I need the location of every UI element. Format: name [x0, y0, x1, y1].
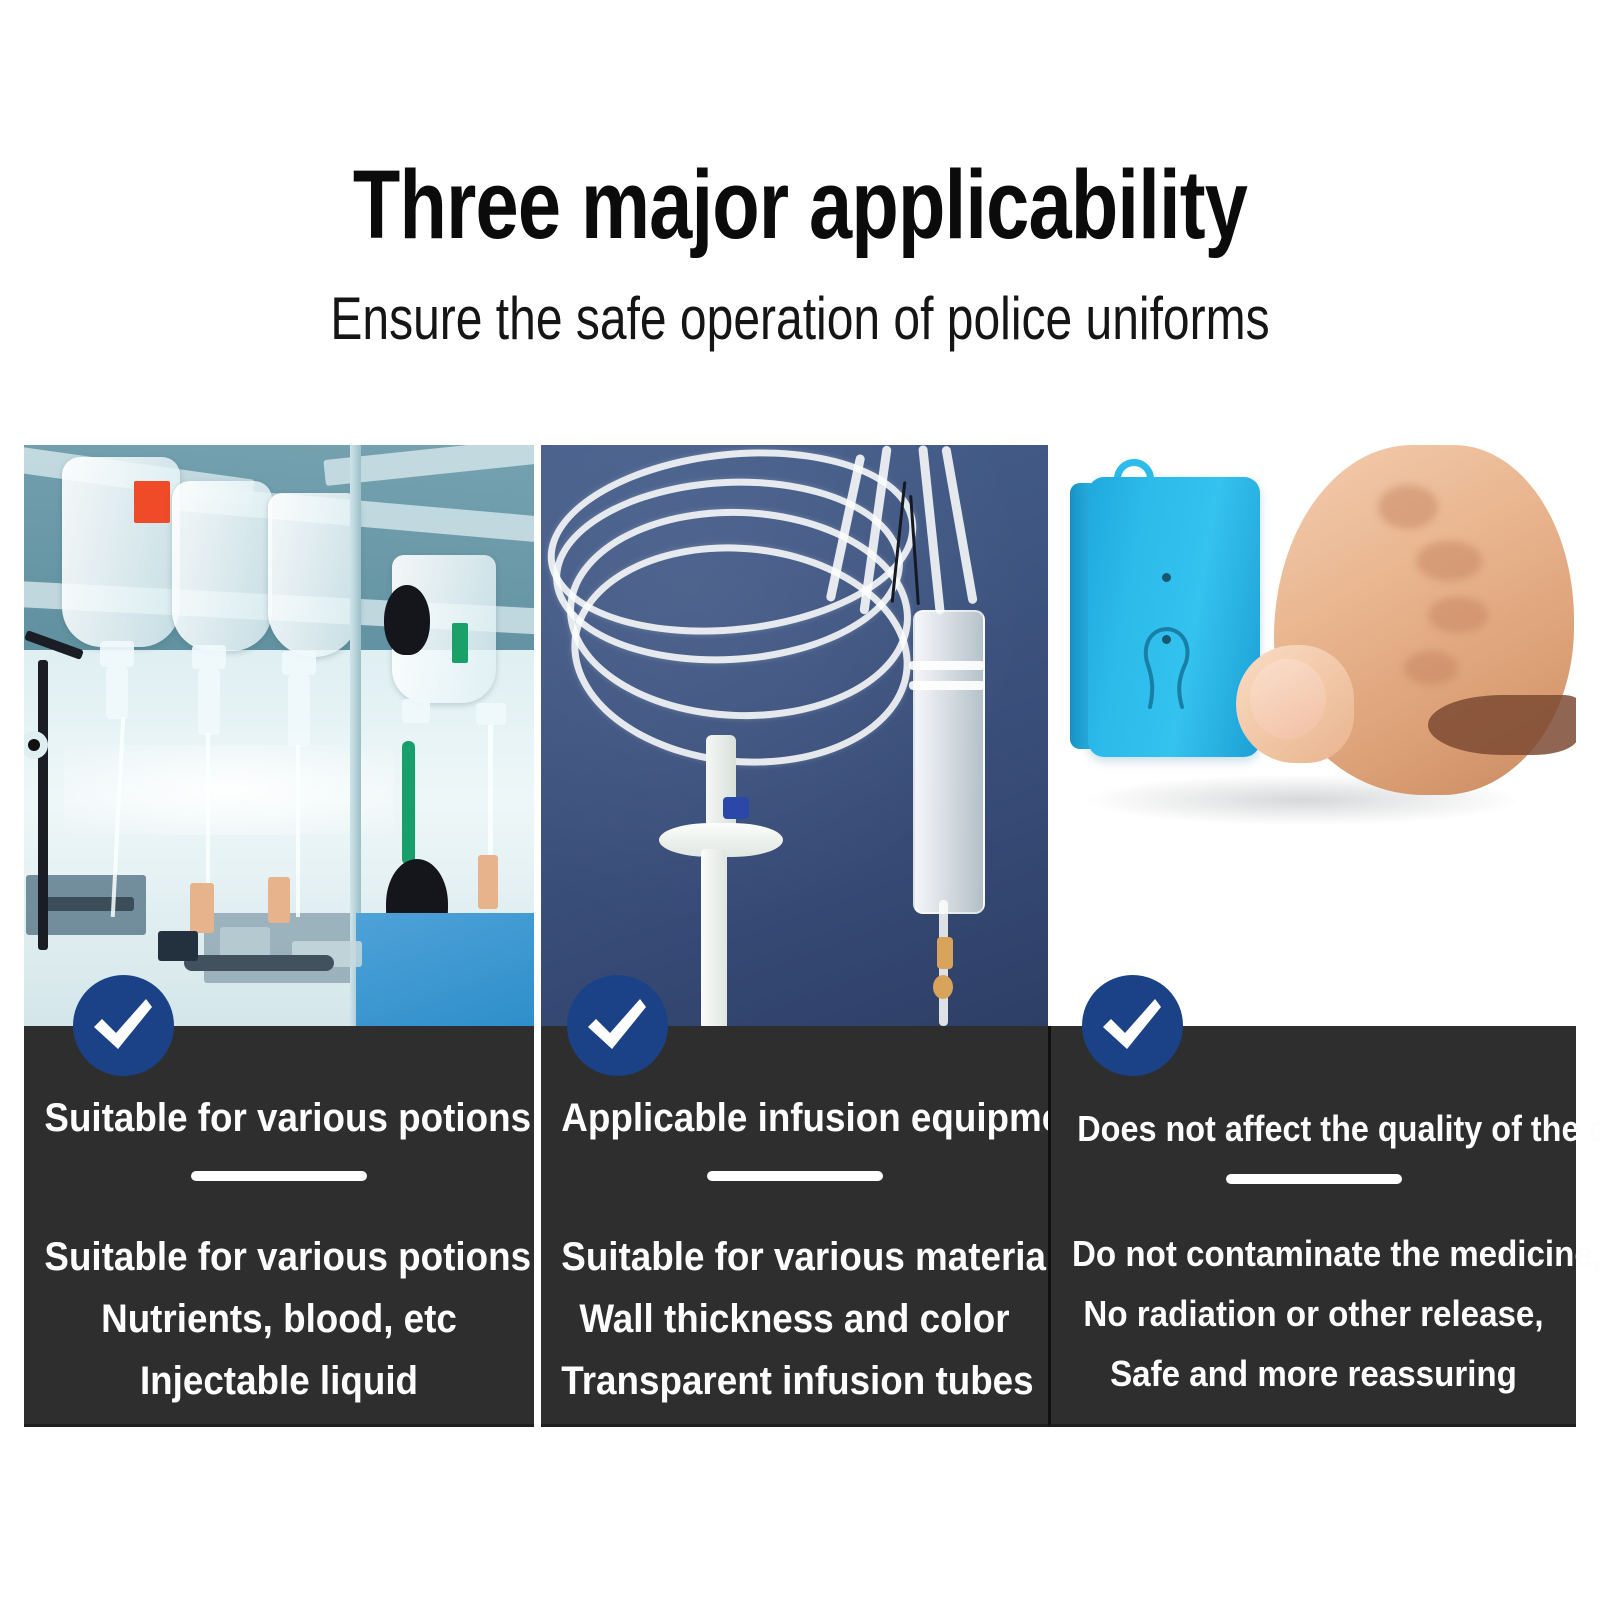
hospital-iv-bags-photo	[24, 445, 534, 1026]
check-icon	[1082, 975, 1183, 1076]
caption-heading: Applicable infusion equipment	[561, 1096, 1027, 1141]
caption-body: Do not contaminate the medicine, No radi…	[1051, 1224, 1576, 1404]
feature-panel-1: Suitable for various potions Suitable fo…	[24, 445, 534, 1427]
feature-panel-grid: Suitable for various potions Suitable fo…	[0, 445, 1600, 1445]
page-header: Three major applicability Ensure the saf…	[0, 0, 1600, 349]
sound-wave-icon	[1138, 623, 1198, 713]
feature-caption-2: Applicable infusion equipment Suitable f…	[541, 1026, 1048, 1427]
caption-line: Do not contaminate the medicine,	[1072, 1224, 1555, 1284]
feature-panel-2: Applicable infusion equipment Suitable f…	[541, 445, 1048, 1427]
caption-divider	[191, 1171, 367, 1181]
caption-line: Transparent infusion tubes	[561, 1350, 1027, 1412]
caption-heading: Does not affect the quality of the drug	[1077, 1108, 1550, 1150]
feature-caption-1: Suitable for various potions Suitable fo…	[24, 1026, 534, 1427]
hand-holding-blue-device-photo	[1048, 445, 1576, 1026]
caption-body: Suitable for various potions Nutrients, …	[24, 1226, 534, 1412]
caption-line: Nutrients, blood, etc	[44, 1288, 513, 1350]
check-icon	[73, 975, 174, 1076]
feature-panel-3: Does not affect the quality of the drug …	[1048, 445, 1576, 1427]
caption-line: Suitable for various potions	[44, 1226, 513, 1288]
caption-divider	[707, 1171, 883, 1181]
caption-line: Safe and more reassuring	[1072, 1344, 1555, 1404]
caption-line: Wall thickness and color	[561, 1288, 1027, 1350]
caption-line: Suitable for various materials	[561, 1226, 1027, 1288]
feature-caption-3: Does not affect the quality of the drug …	[1048, 1026, 1576, 1427]
caption-line: Injectable liquid	[44, 1350, 513, 1412]
caption-body: Suitable for various materials Wall thic…	[541, 1226, 1048, 1412]
page-subtitle: Ensure the safe operation of police unif…	[160, 289, 1440, 349]
caption-divider	[1226, 1174, 1402, 1184]
caption-heading: Suitable for various potions	[44, 1096, 513, 1141]
check-icon	[567, 975, 668, 1076]
infusion-set-tubing-photo	[541, 445, 1048, 1026]
caption-line: No radiation or other release,	[1072, 1284, 1555, 1344]
page-title: Three major applicability	[160, 156, 1440, 253]
